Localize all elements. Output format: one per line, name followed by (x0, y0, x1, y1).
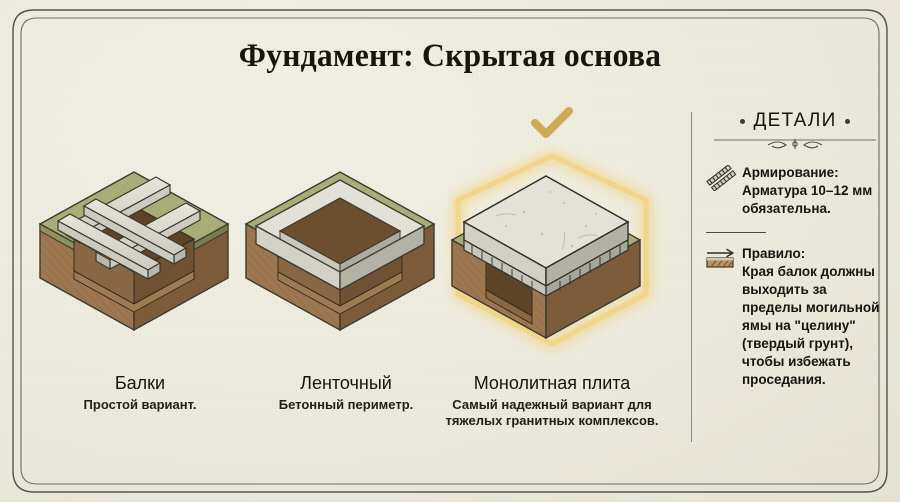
detail-text: Правило: Края балок должны выходить за п… (742, 246, 879, 387)
infographic-page: Фундамент: Скрытая основа (0, 0, 900, 502)
option-card-beams[interactable] (34, 104, 246, 394)
bullet-dot-right-icon (845, 119, 850, 124)
check-mark-beams (34, 106, 246, 148)
rebar-icon (706, 165, 738, 191)
details-heading: ДЕТАЛИ (754, 111, 837, 131)
caption-beams: Балки Простой вариант. (31, 372, 249, 413)
details-header: ДЕТАЛИ (706, 108, 884, 134)
strip-foundation-icon (240, 154, 452, 354)
caption-slab: Монолитная плита Самый надежный вариант … (443, 372, 661, 429)
check-mark-icon (530, 106, 574, 140)
caption-description: Простой вариант. (31, 397, 249, 413)
slab-foundation-icon (446, 154, 658, 354)
option-card-slab[interactable] (446, 104, 658, 394)
caption-title: Ленточный (237, 372, 455, 394)
caption-description: Бетонный периметр. (237, 397, 455, 413)
option-captions: Балки Простой вариант. Ленточный Бетонны… (34, 372, 670, 482)
bullet-dot-left-icon (740, 119, 745, 124)
foundation-options-row (34, 104, 670, 394)
option-card-strip[interactable] (240, 104, 452, 394)
details-panel: ДЕТАЛИ (706, 108, 884, 389)
panel-divider (691, 112, 692, 442)
page-title: Фундамент: Скрытая основа (18, 38, 882, 75)
caption-title: Монолитная плита (443, 372, 661, 394)
caption-title: Балки (31, 372, 249, 394)
detail-text: Армирование: Арматура 10–12 мм обязатель… (742, 165, 872, 216)
check-mark-slab (446, 106, 658, 148)
caption-strip: Ленточный Бетонный периметр. (237, 372, 455, 413)
details-rule (706, 232, 766, 233)
beams-foundation-icon (34, 154, 246, 354)
caption-description: Самый надежный вариант для тяжелых грани… (443, 397, 661, 429)
arrow-over-soil-icon (706, 246, 738, 272)
check-mark-strip (240, 106, 452, 148)
detail-item-reinforcement: Армирование: Арматура 10–12 мм обязатель… (706, 164, 884, 218)
flourish-divider (706, 136, 884, 152)
detail-item-rule: Правило: Края балок должны выходить за п… (706, 245, 884, 389)
